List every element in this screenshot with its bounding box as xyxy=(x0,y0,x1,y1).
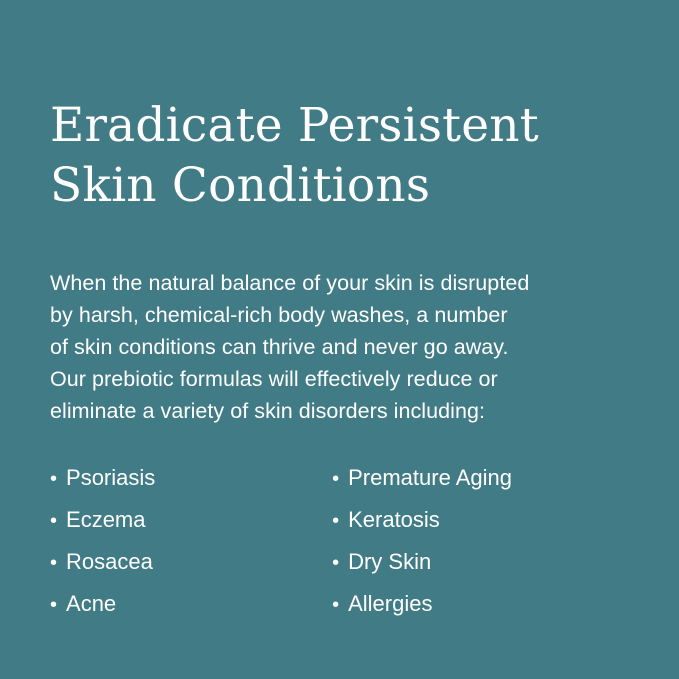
list-item-label: Acne xyxy=(66,593,116,615)
list-item-label: Premature Aging xyxy=(348,467,512,489)
promo-card: Eradicate Persistent Skin Conditions Whe… xyxy=(0,0,679,679)
bullet-icon: • xyxy=(332,511,339,531)
list-item-label: Eczema xyxy=(66,509,145,531)
conditions-list-left: • Psoriasis • Eczema • Rosacea • Acne xyxy=(50,467,332,635)
bullet-icon: • xyxy=(332,595,339,615)
list-item: • Premature Aging xyxy=(332,467,629,489)
list-item-label: Psoriasis xyxy=(66,467,155,489)
page-title: Eradicate Persistent Skin Conditions xyxy=(50,96,629,216)
list-item: • Dry Skin xyxy=(332,551,629,573)
bullet-icon: • xyxy=(50,595,57,615)
list-item: • Rosacea xyxy=(50,551,332,573)
list-item: • Acne xyxy=(50,593,332,615)
bullet-icon: • xyxy=(50,469,57,489)
conditions-lists: • Psoriasis • Eczema • Rosacea • Acne • … xyxy=(50,467,629,635)
list-item-label: Allergies xyxy=(348,593,432,615)
bullet-icon: • xyxy=(50,553,57,573)
bullet-icon: • xyxy=(50,511,57,531)
list-item: • Allergies xyxy=(332,593,629,615)
body-paragraph: When the natural balance of your skin is… xyxy=(50,268,629,427)
bullet-icon: • xyxy=(332,553,339,573)
list-item: • Psoriasis xyxy=(50,467,332,489)
list-item: • Keratosis xyxy=(332,509,629,531)
bullet-icon: • xyxy=(332,469,339,489)
list-item: • Eczema xyxy=(50,509,332,531)
list-item-label: Keratosis xyxy=(348,509,440,531)
list-item-label: Dry Skin xyxy=(348,551,431,573)
list-item-label: Rosacea xyxy=(66,551,153,573)
conditions-list-right: • Premature Aging • Keratosis • Dry Skin… xyxy=(332,467,629,635)
